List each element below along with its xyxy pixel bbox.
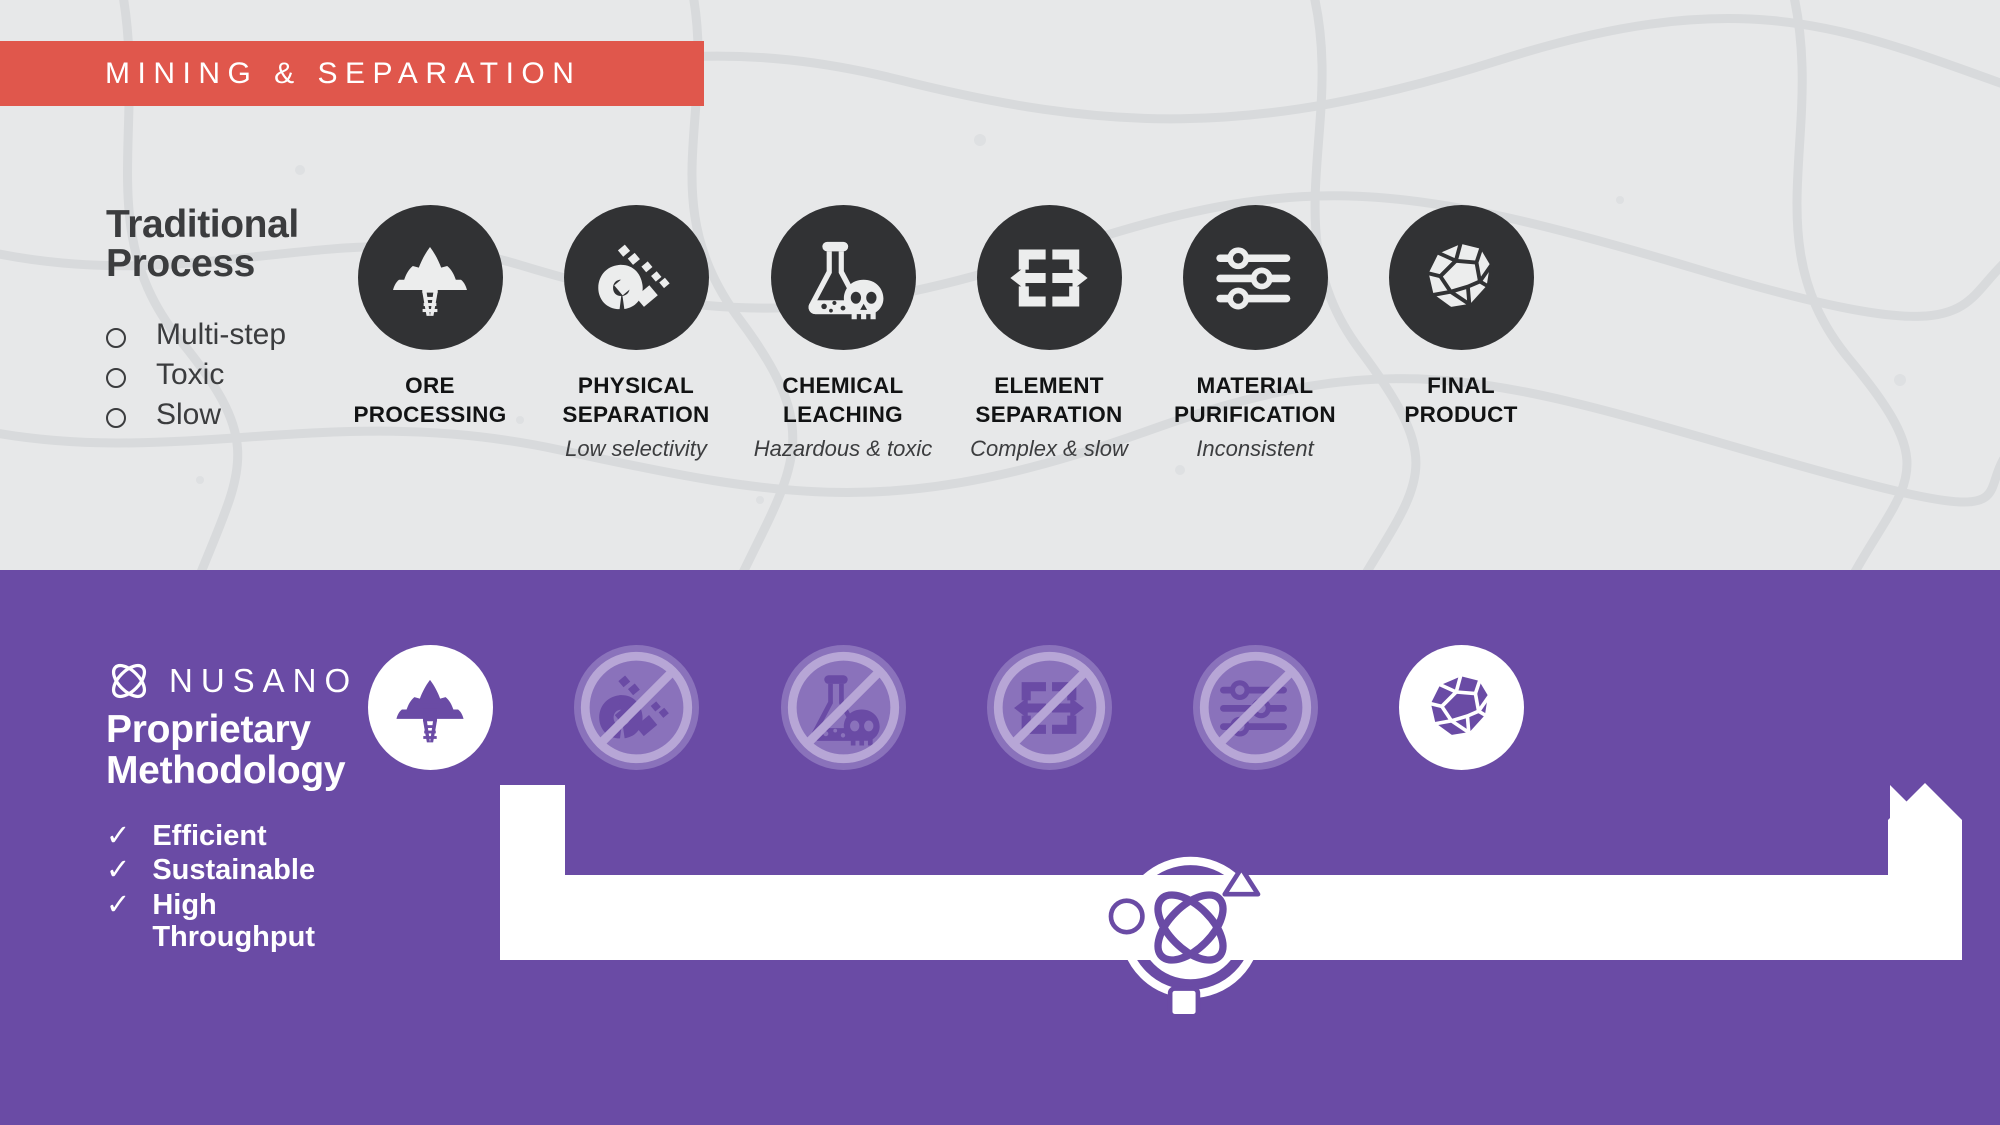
flask-skull-icon: [800, 235, 886, 321]
step-icon-badge: [564, 205, 709, 350]
step-final-product[interactable]: FINAL PRODUCT: [1351, 205, 1571, 430]
process-shortcut-arrow: [0, 570, 2000, 1125]
step-icon-badge: [1183, 205, 1328, 350]
step-label: CHEMICAL LEACHING: [733, 372, 953, 430]
magnet-separation-icon: [595, 237, 677, 319]
infographic-slide: MINING & SEPARATION Traditional Process …: [0, 0, 2000, 1125]
step-material-purification[interactable]: MATERIAL PURIFICATION Inconsistent: [1145, 205, 1365, 462]
step-subtitle: Inconsistent: [1145, 435, 1365, 463]
step-label-line1: FINAL: [1351, 372, 1571, 401]
step-chemical-leaching[interactable]: CHEMICAL LEACHING Hazardous & toxic: [733, 205, 953, 462]
step-subtitle: Hazardous & toxic: [733, 435, 953, 463]
step-label-line2: LEACHING: [733, 401, 953, 430]
nusano-methodology-panel: NUSANO Proprietary Methodology ✓ Efficie…: [0, 570, 2000, 1125]
section-banner: MINING & SEPARATION: [0, 41, 704, 106]
step-label-line1: ELEMENT: [939, 372, 1159, 401]
step-icon-badge: [771, 205, 916, 350]
step-label-line2: SEPARATION: [526, 401, 746, 430]
sliders-icon: [1213, 236, 1297, 320]
step-label: ORE PROCESSING: [320, 372, 540, 430]
step-label: PHYSICAL SEPARATION: [526, 372, 746, 430]
step-icon-badge: [1389, 205, 1534, 350]
step-label: MATERIAL PURIFICATION: [1145, 372, 1365, 430]
step-subtitle: Low selectivity: [526, 435, 746, 463]
step-label-line1: CHEMICAL: [733, 372, 953, 401]
step-subtitle: Complex & slow: [939, 435, 1159, 463]
traditional-step-row: ORE PROCESSING: [0, 205, 2000, 535]
section-banner-title: MINING & SEPARATION: [0, 57, 581, 91]
step-element-separation[interactable]: ELEMENT SEPARATION Complex & slow: [939, 205, 1159, 462]
step-label-line1: PHYSICAL: [526, 372, 746, 401]
step-label-line1: MATERIAL: [1145, 372, 1365, 401]
step-label-line2: PROCESSING: [320, 401, 540, 430]
gem-polyhedron-icon: [1418, 235, 1504, 321]
step-label-line2: SEPARATION: [939, 401, 1159, 430]
step-label-line2: PRODUCT: [1351, 401, 1571, 430]
step-label: ELEMENT SEPARATION: [939, 372, 1159, 430]
step-label: FINAL PRODUCT: [1351, 372, 1571, 430]
step-ore-processing[interactable]: ORE PROCESSING: [320, 205, 540, 430]
step-icon-badge: [977, 205, 1122, 350]
step-label-line2: PURIFICATION: [1145, 401, 1365, 430]
step-icon-badge: [358, 205, 503, 350]
split-arrows-icon: [1007, 236, 1091, 320]
step-physical-separation[interactable]: PHYSICAL SEPARATION Low selectivity: [526, 205, 746, 462]
step-label-line1: ORE: [320, 372, 540, 401]
ore-processing-icon: [387, 235, 473, 321]
nusano-orbit-emblem-icon: [1098, 835, 1283, 1020]
traditional-process-panel: MINING & SEPARATION Traditional Process …: [0, 0, 2000, 570]
